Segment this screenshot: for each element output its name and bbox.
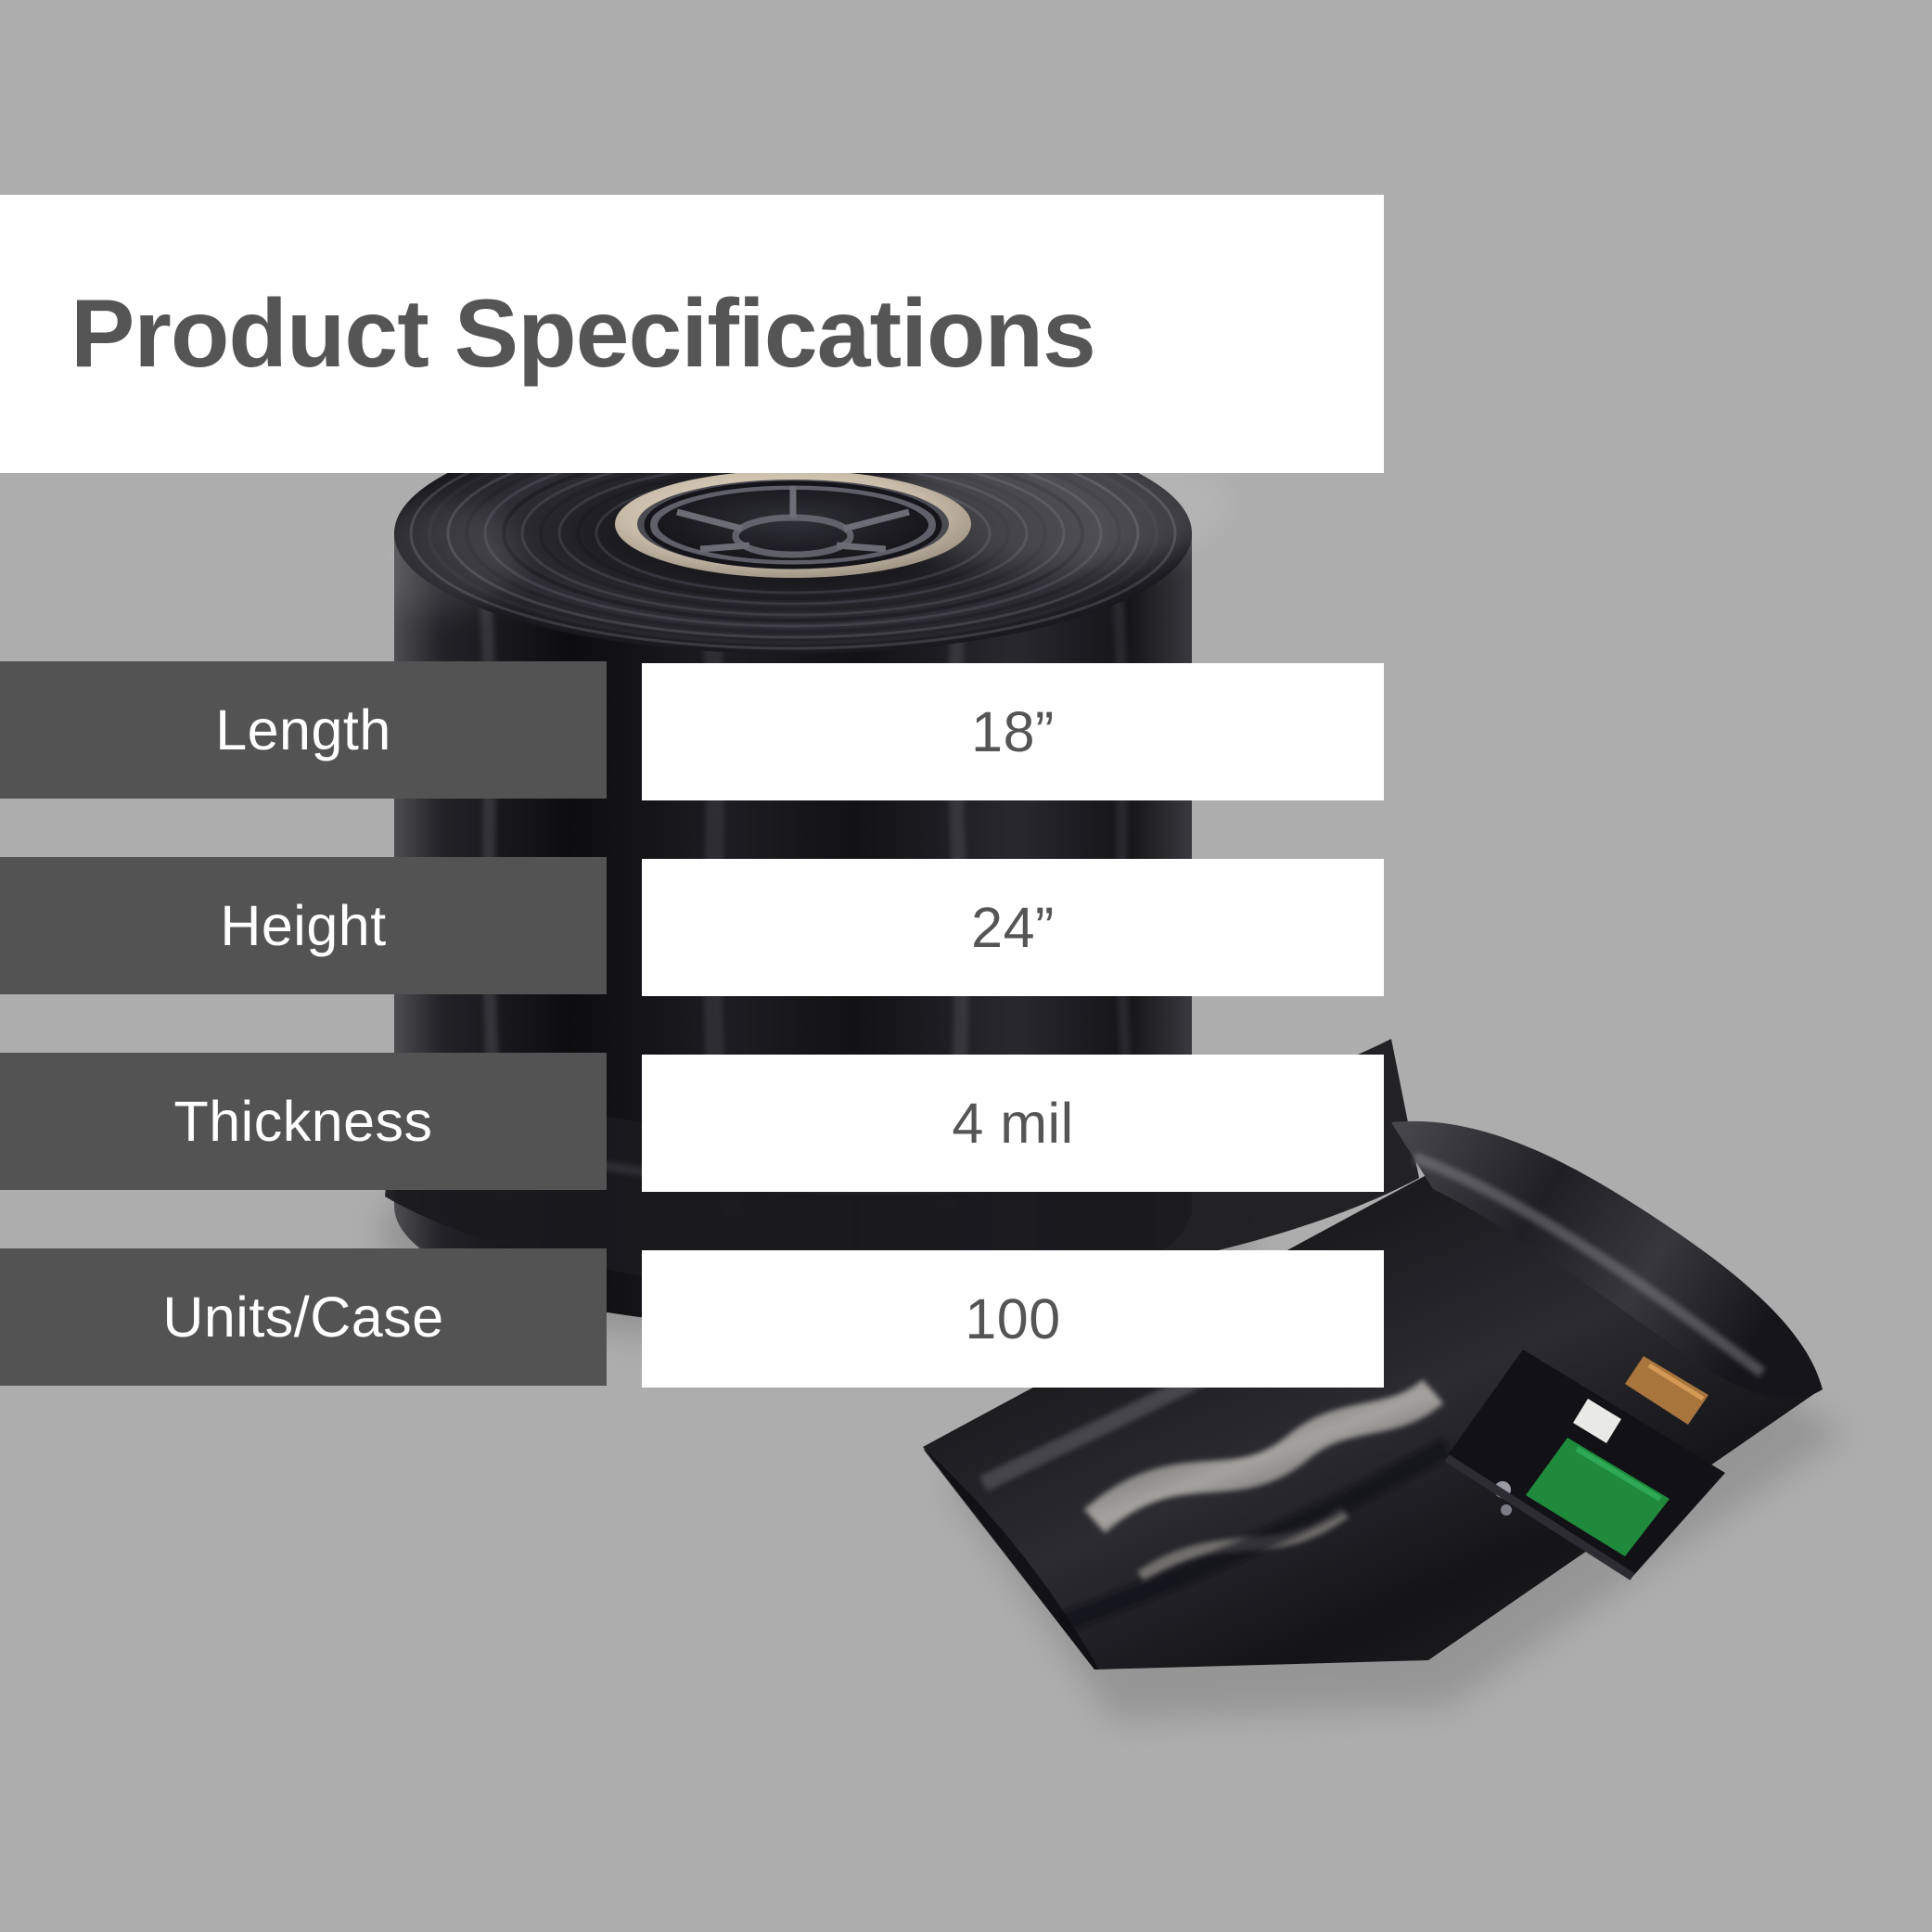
- spec-value-height: 24”: [642, 859, 1384, 996]
- spec-label-height: Height: [0, 857, 607, 994]
- spec-label-thickness: Thickness: [0, 1053, 607, 1190]
- table-row: Thickness 4 mil: [0, 1053, 1384, 1190]
- spec-label-text: Thickness: [173, 1094, 432, 1150]
- spec-label-units-per-case: Units/Case: [0, 1248, 607, 1386]
- spec-label-text: Height: [220, 898, 386, 954]
- spec-value-text: 18”: [971, 704, 1055, 761]
- page-title: Product Specifications: [70, 286, 1095, 382]
- table-row: Units/Case 100: [0, 1248, 1384, 1386]
- spec-label-text: Units/Case: [162, 1289, 443, 1346]
- table-row: Height 24”: [0, 857, 1384, 994]
- spec-label-text: Length: [215, 702, 391, 759]
- spec-value-text: 24”: [971, 900, 1055, 956]
- title-banner: Product Specifications: [0, 195, 1384, 473]
- table-row: Length 18”: [0, 661, 1384, 799]
- spec-label-length: Length: [0, 661, 607, 799]
- spec-value-text: 4 mil: [952, 1095, 1073, 1152]
- spec-table: Length 18” Height 24” Thickness 4 mil: [0, 661, 1384, 1444]
- spec-value-length: 18”: [642, 663, 1384, 800]
- spec-value-units-per-case: 100: [642, 1250, 1384, 1388]
- spec-value-thickness: 4 mil: [642, 1055, 1384, 1192]
- product-spec-graphic: Product Specifications Length 18” Height…: [0, 0, 1932, 1932]
- spec-value-text: 100: [965, 1291, 1060, 1348]
